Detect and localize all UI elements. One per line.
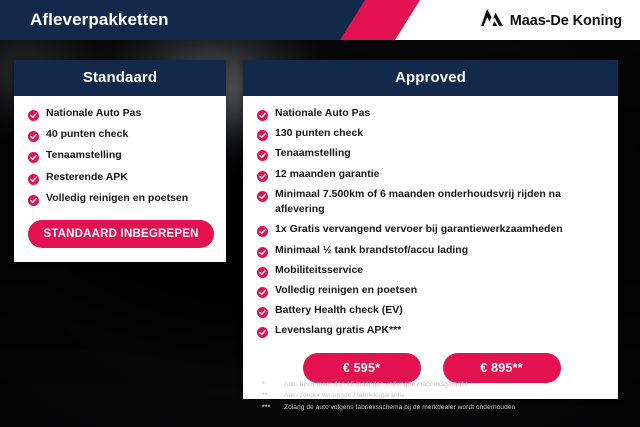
footnote-marker: * (262, 379, 284, 390)
list-item: Battery Health check (EV) (257, 303, 606, 318)
check-circle-icon (257, 245, 268, 256)
brand-name: Maas-De Koning (510, 13, 622, 29)
footnote-single-asterisk: * Auto heeft meer dan 12 maanden verleng… (262, 379, 632, 390)
check-circle-icon (28, 150, 39, 161)
feature-label: 12 maanden garantie (275, 167, 379, 182)
feature-label: Nationale Auto Pas (275, 106, 370, 121)
list-item: Nationale Auto Pas (257, 106, 606, 121)
footnote-marker: *** (262, 402, 284, 413)
list-item: 40 punten check (28, 127, 214, 142)
footnote-text: Zolang de auto volgens fabrieksschema bi… (284, 402, 632, 413)
check-circle-icon (257, 108, 268, 119)
feature-list-standaard: Nationale Auto Pas 40 punten check (28, 106, 214, 206)
card-heading-standaard: Standaard (14, 60, 226, 96)
check-circle-icon (257, 285, 268, 296)
check-circle-icon (257, 325, 268, 336)
standaard-inbegrepen-button[interactable]: STANDAARD INBEGREPEN (28, 220, 214, 248)
list-item: Minimaal 7.500km of 6 maanden onderhouds… (257, 187, 606, 217)
list-item: Tenaamstelling (257, 146, 606, 161)
check-circle-icon (28, 129, 39, 140)
check-circle-icon (257, 148, 268, 159)
list-item: Volledig reinigen en poetsen (28, 191, 214, 206)
check-circle-icon (28, 108, 39, 119)
list-item: Resterende APK (28, 170, 214, 185)
footnotes: * Auto heeft meer dan 12 maanden verleng… (262, 379, 632, 413)
footnote-text: Auto heeft meer dan 12 maanden verlengde… (284, 379, 632, 390)
feature-label: Minimaal ½ tank brandstof/accu lading (275, 243, 468, 258)
check-circle-icon (257, 224, 268, 235)
feature-label: Mobiliteitsservice (275, 263, 363, 278)
feature-label: 1x Gratis vervangend vervoer bij garanti… (275, 222, 563, 237)
feature-label: Resterende APK (46, 170, 128, 185)
feature-label: Minimaal 7.500km of 6 maanden onderhouds… (275, 187, 606, 217)
package-card-standaard: Standaard Nationale Auto Pas (14, 60, 226, 262)
footnote-triple-asterisk: *** Zolang de auto volgens fabrieksschem… (262, 402, 632, 413)
feature-label: Volledig reinigen en poetsen (275, 283, 417, 298)
feature-list-approved: Nationale Auto Pas 130 punten check (257, 106, 606, 339)
feature-label: Battery Health check (EV) (275, 303, 403, 318)
feature-label: Nationale Auto Pas (46, 106, 141, 121)
list-item: 130 punten check (257, 126, 606, 141)
feature-label: Volledig reinigen en poetsen (46, 191, 188, 206)
feature-label: Levenslang gratis APK*** (275, 323, 401, 338)
card-body-approved: Nationale Auto Pas 130 punten check (243, 96, 618, 399)
list-item: Minimaal ½ tank brandstof/accu lading (257, 243, 606, 258)
brand-lockup: Maas-De Koning (481, 9, 622, 32)
check-circle-icon (257, 265, 268, 276)
list-item: 1x Gratis vervangend vervoer bij garanti… (257, 222, 606, 237)
check-circle-icon (257, 169, 268, 180)
card-heading-approved: Approved (243, 60, 618, 96)
card-body-standaard: Nationale Auto Pas 40 punten check (14, 96, 226, 262)
list-item: Tenaamstelling (28, 148, 214, 163)
feature-label: Tenaamstelling (275, 146, 351, 161)
maas-de-koning-m-icon (481, 9, 503, 32)
check-circle-icon (28, 172, 39, 183)
check-circle-icon (28, 193, 39, 204)
list-item: Levenslang gratis APK*** (257, 323, 606, 338)
check-circle-icon (257, 128, 268, 139)
feature-label: 40 punten check (46, 127, 128, 142)
page-header: Afleverpakketten Maas-De Koning (0, 0, 640, 40)
footnote-text: Auto zonder verlengde / fabrieksgarantie (284, 390, 632, 401)
list-item: Nationale Auto Pas (28, 106, 214, 121)
list-item: Volledig reinigen en poetsen (257, 283, 606, 298)
check-circle-icon (257, 305, 268, 316)
feature-label: 130 punten check (275, 126, 363, 141)
footnote-marker: ** (262, 390, 284, 401)
page-title: Afleverpakketten (30, 10, 169, 30)
package-card-approved: Approved Nationale Auto Pas (243, 60, 618, 399)
feature-label: Tenaamstelling (46, 148, 122, 163)
check-circle-icon (257, 189, 268, 200)
afleverpakketten-page: Afleverpakketten Maas-De Koning Standaar… (0, 0, 640, 427)
list-item: Mobiliteitsservice (257, 263, 606, 278)
list-item: 12 maanden garantie (257, 167, 606, 182)
standaard-cta-wrapper: STANDAARD INBEGREPEN (28, 212, 214, 250)
footnote-double-asterisk: ** Auto zonder verlengde / fabrieksgaran… (262, 390, 632, 401)
